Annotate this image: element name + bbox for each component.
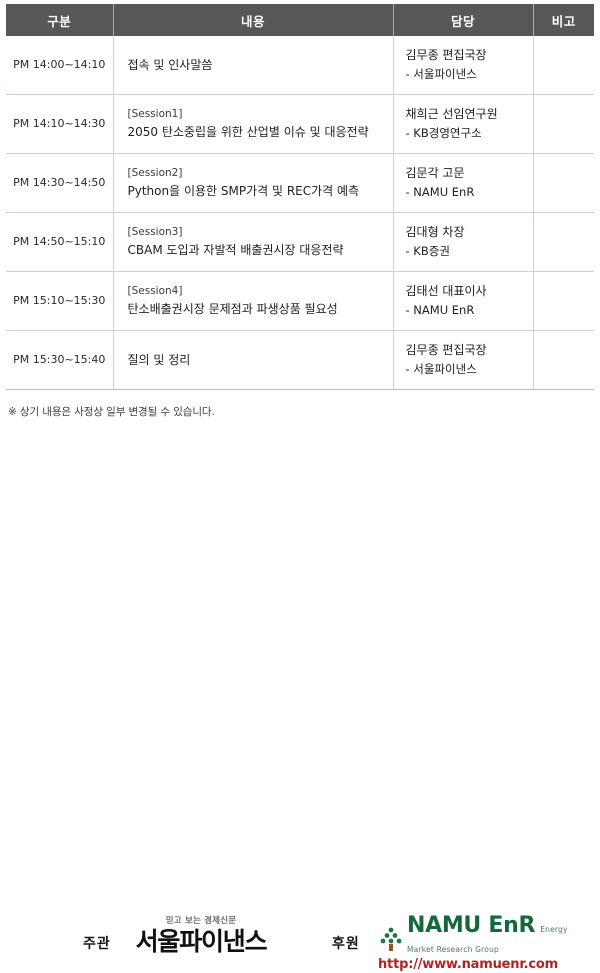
seoul-finance-logo: 믿고 보는 경제신문 서울파이낸스	[131, 917, 271, 954]
cell-charge: 김무종 편집국장 - 서울파이낸스	[393, 36, 533, 95]
seoul-finance-name: 서울파이낸스	[131, 929, 271, 954]
table-row: PM 14:00~14:10 접속 및 인사말씀 김무종 편집국장 - 서울파이…	[6, 36, 594, 95]
session-tag: [Session3]	[128, 224, 393, 240]
cell-content: 질의 및 정리	[113, 331, 393, 390]
cell-note	[533, 95, 594, 154]
table-row: PM 14:30~14:50 [Session2] Python을 이용한 SM…	[6, 154, 594, 213]
cell-note	[533, 272, 594, 331]
column-header-note: 비고	[533, 4, 594, 36]
table-row: PM 14:50~15:10 [Session3] CBAM 도입과 자발적 배…	[6, 213, 594, 272]
tree-icon	[378, 926, 404, 956]
namu-enr-url[interactable]: http://www.namuenr.com	[378, 957, 568, 973]
cell-charge: 김문각 고문 - NAMU EnR	[393, 154, 533, 213]
session-tag: [Session2]	[128, 165, 393, 181]
cell-time: PM 15:30~15:40	[6, 331, 113, 390]
disclaimer-note: ※ 상기 내용은 사정상 일부 변경될 수 있습니다.	[8, 404, 215, 419]
cell-note	[533, 36, 594, 95]
table-header: 구분 내용 담당 비고	[6, 4, 594, 36]
table-header-row: 구분 내용 담당 비고	[6, 4, 594, 36]
charge-organization: - KB경영연구소	[406, 124, 533, 142]
cell-note	[533, 154, 594, 213]
charge-organization: - NAMU EnR	[406, 183, 533, 201]
namu-text-block: NAMU EnR Energy Market Research Group	[407, 915, 568, 956]
session-title: 접속 및 인사말씀	[128, 55, 393, 75]
cell-content: 접속 및 인사말씀	[113, 36, 393, 95]
cell-content: [Session1] 2050 탄소중립을 위한 산업별 이슈 및 대응전략	[113, 95, 393, 154]
column-header-time: 구분	[6, 4, 113, 36]
namu-enr-logo: NAMU EnR Energy Market Research Group ht…	[378, 915, 568, 973]
charge-person: 김태선 대표이사	[406, 282, 533, 301]
cell-charge: 김태선 대표이사 - NAMU EnR	[393, 272, 533, 331]
cell-time: PM 15:10~15:30	[6, 272, 113, 331]
namu-logo-top-row: NAMU EnR Energy Market Research Group	[378, 915, 568, 956]
table-row: PM 15:30~15:40 질의 및 정리 김무종 편집국장 - 서울파이낸스	[6, 331, 594, 390]
schedule-table: 구분 내용 담당 비고 PM 14:00~14:10 접속 및 인사말씀 김무종…	[6, 4, 594, 390]
cell-time: PM 14:50~15:10	[6, 213, 113, 272]
cell-charge: 채희근 선임연구원 - KB경영연구소	[393, 95, 533, 154]
session-tag: [Session1]	[128, 106, 393, 122]
session-tag: [Session4]	[128, 283, 393, 299]
namu-enr-name: NAMU EnR	[407, 913, 535, 938]
table-row: PM 14:10~14:30 [Session1] 2050 탄소중립을 위한 …	[6, 95, 594, 154]
table-body: PM 14:00~14:10 접속 및 인사말씀 김무종 편집국장 - 서울파이…	[6, 36, 594, 390]
session-title: 탄소배출권시장 문제점과 파생상품 필요성	[128, 300, 393, 319]
organizer-label: 주관	[83, 933, 111, 953]
charge-person: 김대형 차장	[406, 223, 533, 242]
footer-sponsors: 주관 믿고 보는 경제신문 서울파이낸스 후원	[0, 455, 600, 513]
session-title: 2050 탄소중립을 위한 산업별 이슈 및 대응전략	[128, 123, 393, 142]
column-header-charge: 담당	[393, 4, 533, 36]
charge-person: 김문각 고문	[406, 164, 533, 183]
cell-time: PM 14:00~14:10	[6, 36, 113, 95]
charge-organization: - 서울파이낸스	[406, 65, 533, 83]
charge-organization: - 서울파이낸스	[406, 360, 533, 378]
charge-person: 김무종 편집국장	[406, 46, 533, 65]
schedule-table-container: 구분 내용 담당 비고 PM 14:00~14:10 접속 및 인사말씀 김무종…	[6, 4, 594, 390]
cell-charge: 김무종 편집국장 - 서울파이낸스	[393, 331, 533, 390]
cell-content: [Session2] Python을 이용한 SMP가격 및 REC가격 예측	[113, 154, 393, 213]
seminar-agenda-page: 구분 내용 담당 비고 PM 14:00~14:10 접속 및 인사말씀 김무종…	[0, 0, 600, 513]
seoul-finance-tagline: 믿고 보는 경제신문	[131, 917, 271, 926]
cell-time: PM 14:10~14:30	[6, 95, 113, 154]
session-title: Python을 이용한 SMP가격 및 REC가격 예측	[128, 182, 393, 201]
cell-time: PM 14:30~14:50	[6, 154, 113, 213]
cell-content: [Session4] 탄소배출권시장 문제점과 파생상품 필요성	[113, 272, 393, 331]
charge-person: 채희근 선임연구원	[406, 105, 533, 124]
charge-organization: - KB증권	[406, 242, 533, 260]
cell-note	[533, 331, 594, 390]
cell-charge: 김대형 차장 - KB증권	[393, 213, 533, 272]
cell-note	[533, 213, 594, 272]
sponsor-label: 후원	[332, 933, 360, 953]
charge-person: 김무종 편집국장	[406, 341, 533, 360]
table-row: PM 15:10~15:30 [Session4] 탄소배출권시장 문제점과 파…	[6, 272, 594, 331]
session-title: CBAM 도입과 자발적 배출권시장 대응전략	[128, 241, 393, 260]
cell-content: [Session3] CBAM 도입과 자발적 배출권시장 대응전략	[113, 213, 393, 272]
session-title: 질의 및 정리	[128, 350, 393, 370]
charge-organization: - NAMU EnR	[406, 301, 533, 319]
column-header-content: 내용	[113, 4, 393, 36]
